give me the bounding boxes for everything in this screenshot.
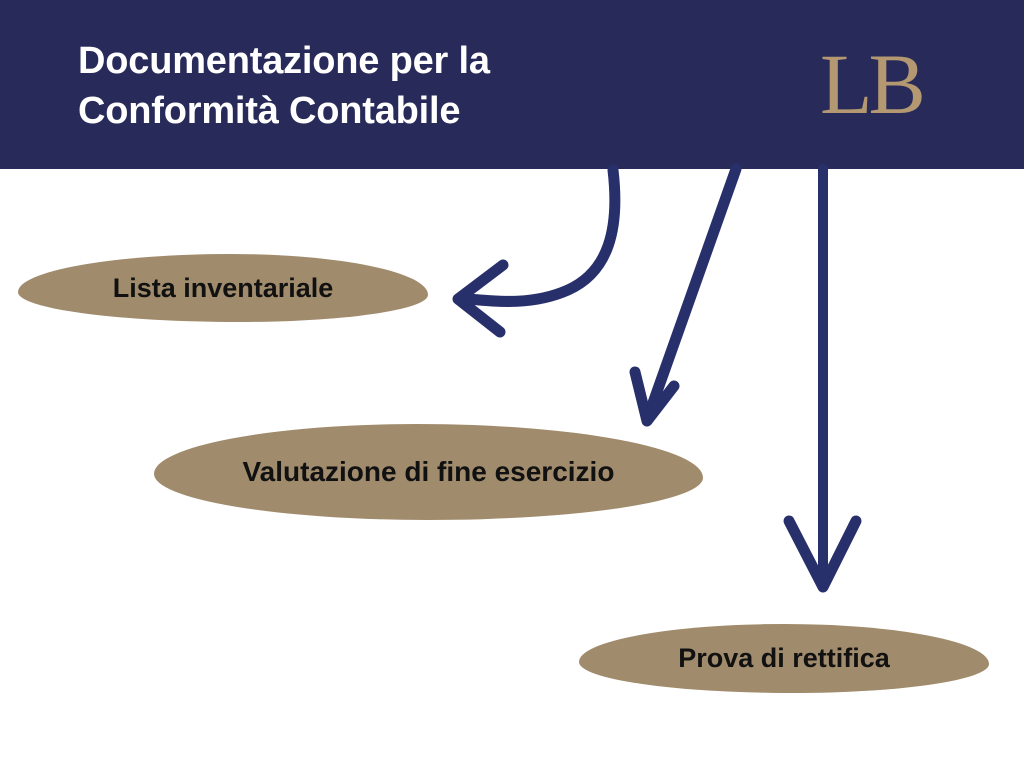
callout-prova-di-rettifica[interactable]: Prova di rettifica (579, 624, 989, 693)
diagonal-arrow-down-left-icon (635, 169, 736, 421)
callout-label: Prova di rettifica (678, 643, 890, 674)
page-title: Documentazione per la Conformità Contabi… (78, 36, 718, 136)
callout-label: Valutazione di fine esercizio (243, 456, 615, 488)
callout-valutazione-fine-esercizio[interactable]: Valutazione di fine esercizio (154, 424, 703, 520)
callout-lista-inventariale[interactable]: Lista inventariale (18, 254, 428, 322)
brand-logo-lb: LB (820, 38, 940, 130)
curved-arrow-left-icon (458, 170, 615, 332)
vertical-arrow-down-icon (789, 169, 856, 587)
slide-canvas: Documentazione per la Conformità Contabi… (0, 0, 1024, 768)
header-band: Documentazione per la Conformità Contabi… (0, 0, 1024, 169)
callout-label: Lista inventariale (113, 273, 334, 304)
